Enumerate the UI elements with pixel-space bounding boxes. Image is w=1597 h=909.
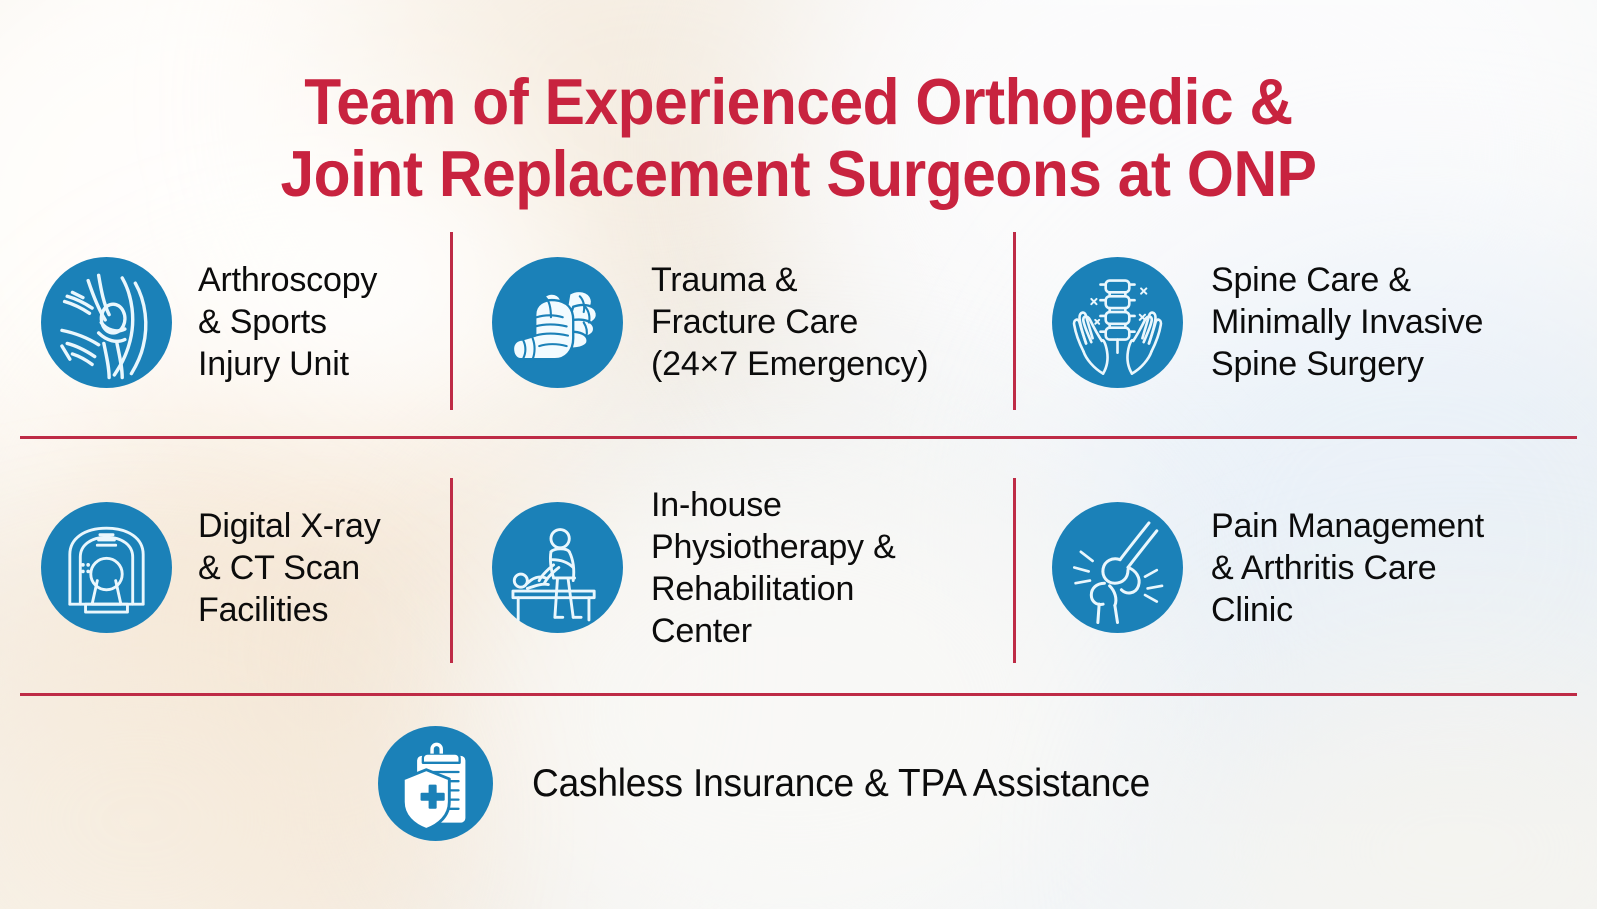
service-item-insurance[interactable]: Cashless Insurance & TPA Assistance (378, 726, 1183, 841)
service-item-imaging[interactable]: Digital X-ray & CT Scan Facilities (41, 470, 441, 665)
service-label: Digital X-ray & CT Scan Facilities (198, 505, 381, 631)
service-label: Pain Management & Arthritis Care Clinic (1211, 505, 1484, 631)
hip-joint-pain-icon (1052, 502, 1183, 633)
ct-scanner-icon (41, 502, 172, 633)
service-label: Cashless Insurance & TPA Assistance (532, 762, 1150, 806)
clipboard-shield-cross-icon (378, 726, 493, 841)
service-item-spine[interactable]: Spine Care & Minimally Invasive Spine Su… (1052, 232, 1572, 412)
knee-joint-arthroscopy-icon (41, 257, 172, 388)
service-item-physiotherapy[interactable]: In-house Physiotherapy & Rehabilitation … (492, 470, 1012, 665)
spine-in-hands-icon (1052, 257, 1183, 388)
service-label: Spine Care & Minimally Invasive Spine Su… (1211, 259, 1483, 385)
page-title-line-2: Joint Replacement Surgeons at ONP (56, 138, 1541, 210)
service-label: Trauma & Fracture Care (24×7 Emergency) (651, 259, 928, 385)
page-title-line-1: Team of Experienced Orthopedic & (56, 66, 1541, 138)
service-label: In-house Physiotherapy & Rehabilitation … (651, 484, 896, 652)
services-grid: Arthroscopy & Sports Injury Unit (0, 232, 1597, 664)
bandaged-hand-icon (492, 257, 623, 388)
service-item-pain[interactable]: Pain Management & Arthritis Care Clinic (1052, 470, 1572, 665)
physiotherapy-table-icon (492, 502, 623, 633)
service-item-arthroscopy[interactable]: Arthroscopy & Sports Injury Unit (41, 232, 441, 412)
infographic-canvas: Team of Experienced Orthopedic & Joint R… (0, 0, 1597, 909)
divider-horizontal-bottom (20, 693, 1577, 696)
page-title: Team of Experienced Orthopedic & Joint R… (56, 66, 1541, 210)
service-item-trauma[interactable]: Trauma & Fracture Care (24×7 Emergency) (492, 232, 1012, 412)
service-label: Arthroscopy & Sports Injury Unit (198, 259, 377, 385)
